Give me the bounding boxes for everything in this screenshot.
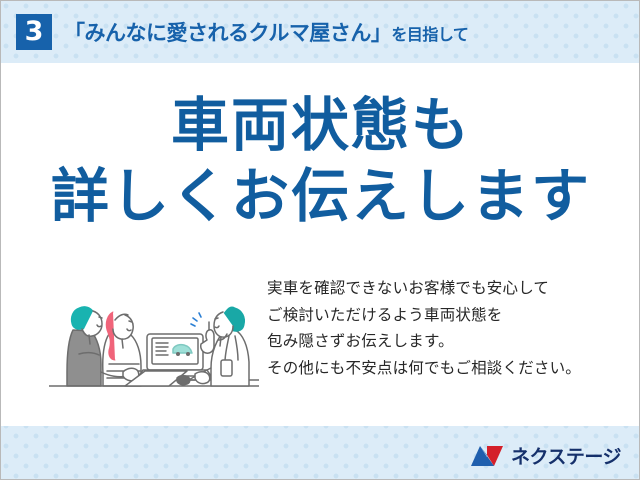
- brand-logo: ネクステージ: [470, 442, 621, 469]
- body-copy-line: その他にも不安点は何でもご相談ください。: [267, 356, 581, 383]
- header-title-tail: を目指して: [391, 27, 468, 44]
- nextage-n-logo-icon: [470, 444, 504, 468]
- promotional-poster: 3 「みんなに愛されるクルマ屋さん」を目指して 車両状態も 詳しくお伝えします: [0, 0, 640, 480]
- content-row: 実車を確認できないお客様でも安心して ご検討いただけるよう車両状態を 包み隠さず…: [1, 268, 640, 423]
- content-panel: 車両状態も 詳しくお伝えします: [1, 63, 640, 426]
- body-copy: 実車を確認できないお客様でも安心して ご検討いただけるよう車両状態を 包み隠さず…: [267, 268, 581, 383]
- brand-wordmark: ネクステージ: [511, 442, 621, 469]
- body-copy-line: ご検討いただけるよう車両状態を: [267, 303, 581, 330]
- headline-line-1: 車両状態も: [1, 91, 640, 162]
- consultation-illustration: [49, 268, 259, 408]
- header-title: 「みんなに愛されるクルマ屋さん」を目指して: [64, 17, 468, 47]
- body-copy-line: 実車を確認できないお客様でも安心して: [267, 276, 581, 303]
- headline-line-2: 詳しくお伝えします: [1, 162, 640, 233]
- poster-header: 3 「みんなに愛されるクルマ屋さん」を目指して: [1, 1, 640, 63]
- header-title-quoted: 「みんなに愛されるクルマ屋さん」: [64, 22, 391, 45]
- step-number-badge: 3: [16, 14, 52, 50]
- headline: 車両状態も 詳しくお伝えします: [1, 91, 640, 233]
- body-copy-line: 包み隠さずお伝えします。: [267, 329, 581, 356]
